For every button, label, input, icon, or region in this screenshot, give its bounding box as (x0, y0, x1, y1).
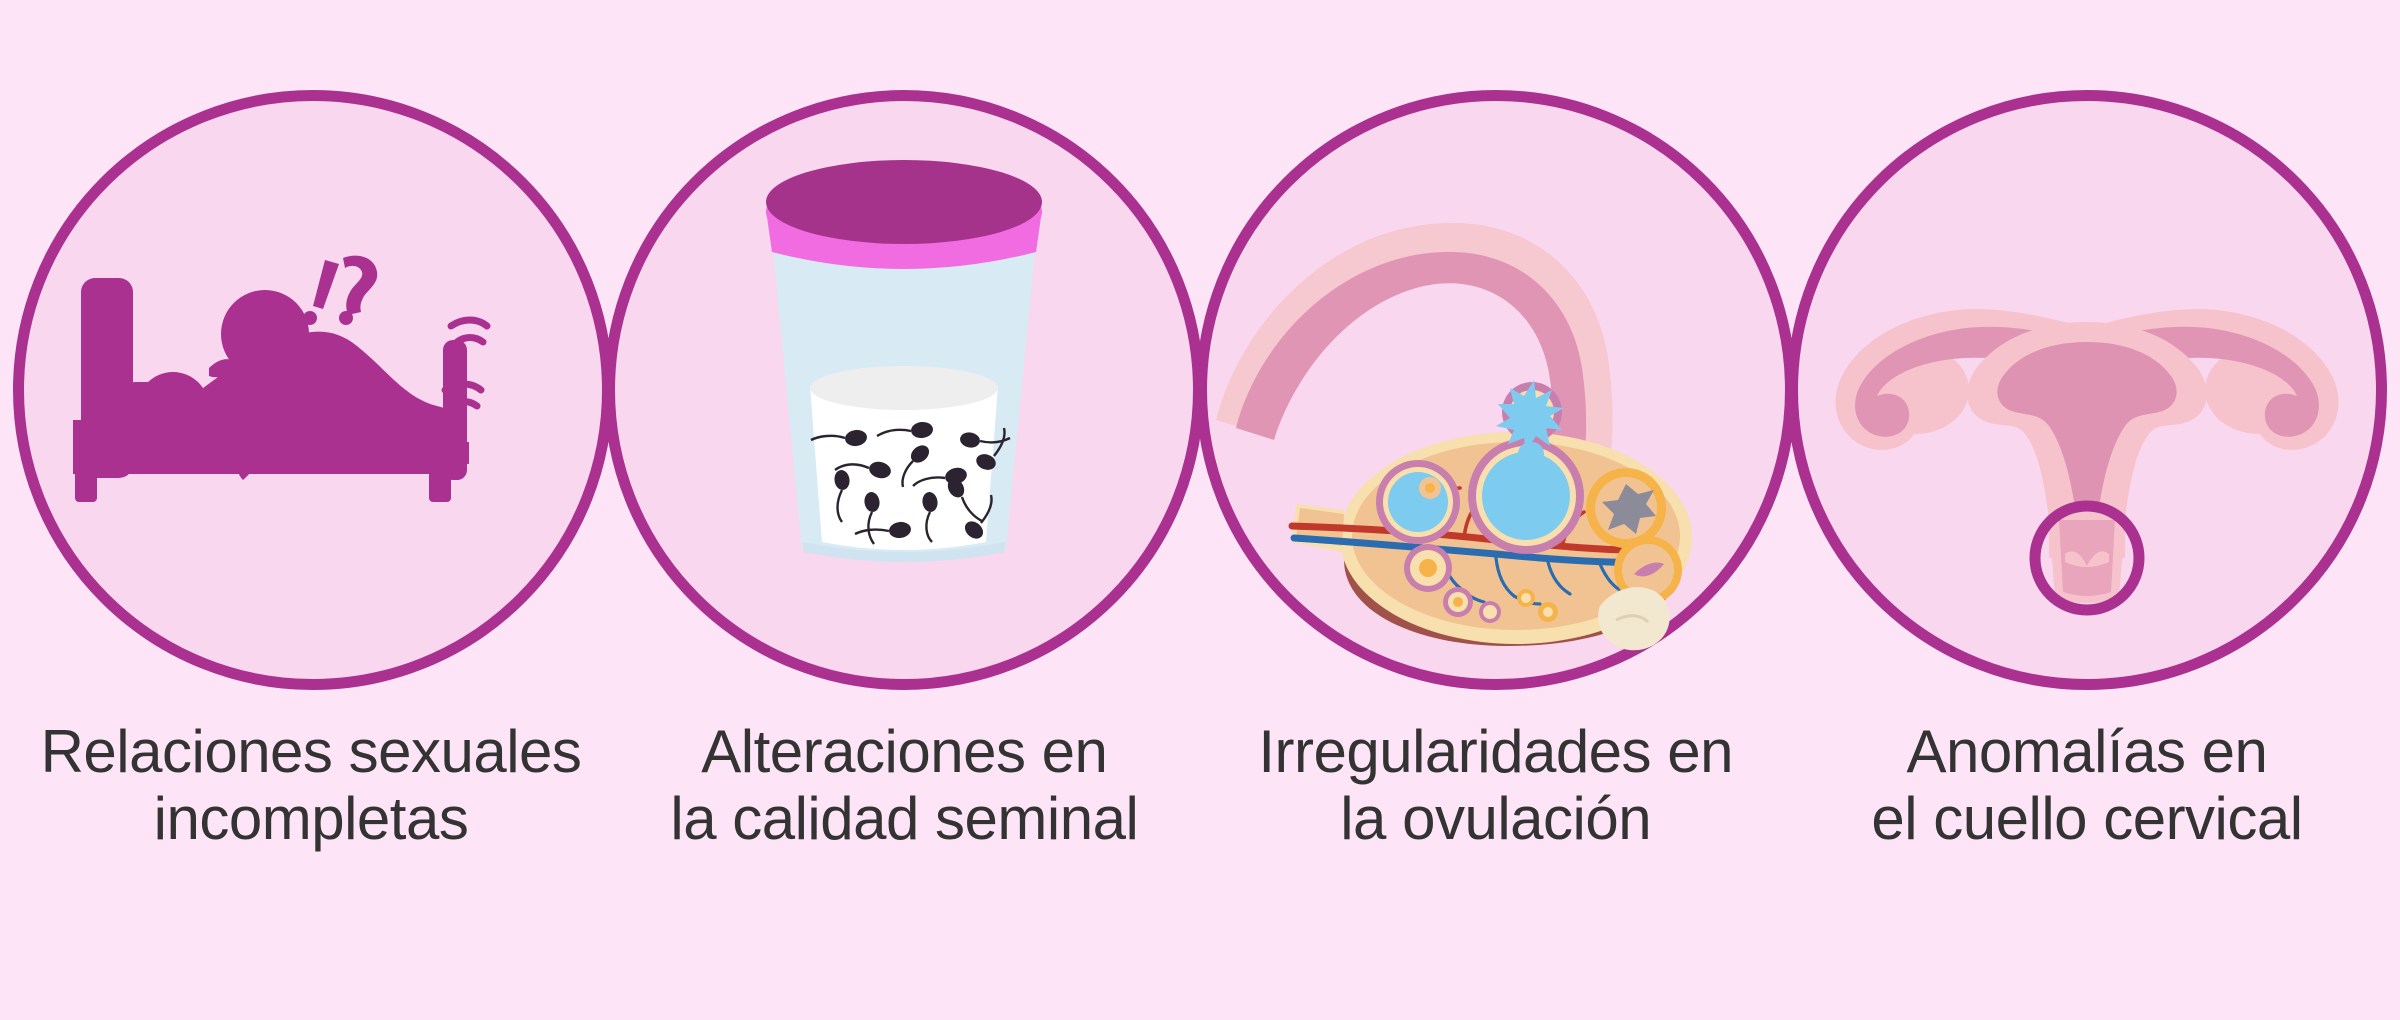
cards-row: Relaciones sexuales incompletas (0, 0, 2400, 1020)
medallion-4 (1787, 90, 2387, 690)
medallion-3 (1196, 90, 1796, 690)
medallion-1 (13, 90, 613, 690)
card-caption-4: Anomalías en el cuello cervical (1777, 718, 2397, 852)
card-alteraciones-calidad-seminal[interactable]: Alteraciones en la calidad seminal (609, 0, 1199, 960)
uterus-cervix-icon (1787, 90, 2387, 690)
ovary-ovulation-icon (1196, 90, 1796, 690)
card-relaciones-sexuales-incompletas[interactable]: Relaciones sexuales incompletas (18, 0, 608, 960)
infertility-causes-infographic: Relaciones sexuales incompletas (0, 0, 2400, 1020)
semen-sample-cup-icon (604, 90, 1204, 690)
medallion-2 (604, 90, 1204, 690)
card-caption-1: Relaciones sexuales incompletas (1, 718, 621, 852)
card-caption-3: Irregularidades en la ovulación (1186, 718, 1806, 852)
card-caption-2: Alteraciones en la calidad seminal (594, 718, 1214, 852)
couple-in-bed-icon (13, 90, 613, 690)
card-irregularidades-ovulacion[interactable]: Irregularidades en la ovulación (1201, 0, 1791, 960)
card-anomalias-cuello-cervical[interactable]: Anomalías en el cuello cervical (1792, 0, 2382, 960)
